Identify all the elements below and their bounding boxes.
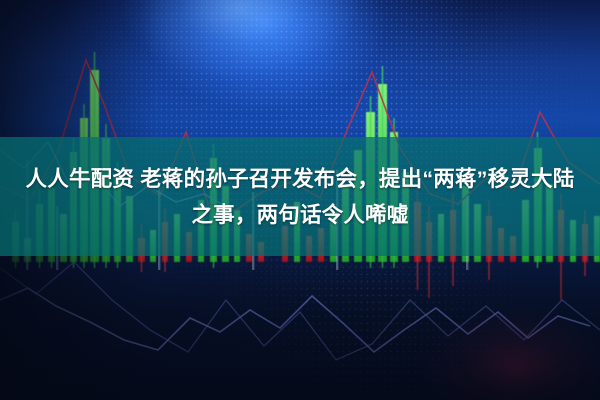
banner-image: 人人牛配资 老蒋的孙子召开发布会，提出“两蒋”移灵大陆之事，两句话令人唏嘘 [0, 0, 600, 400]
headline-band: 人人牛配资 老蒋的孙子召开发布会，提出“两蒋”移灵大陆之事，两句话令人唏嘘 [0, 137, 600, 256]
headline-text: 人人牛配资 老蒋的孙子召开发布会，提出“两蒋”移灵大陆之事，两句话令人唏嘘 [22, 161, 578, 233]
